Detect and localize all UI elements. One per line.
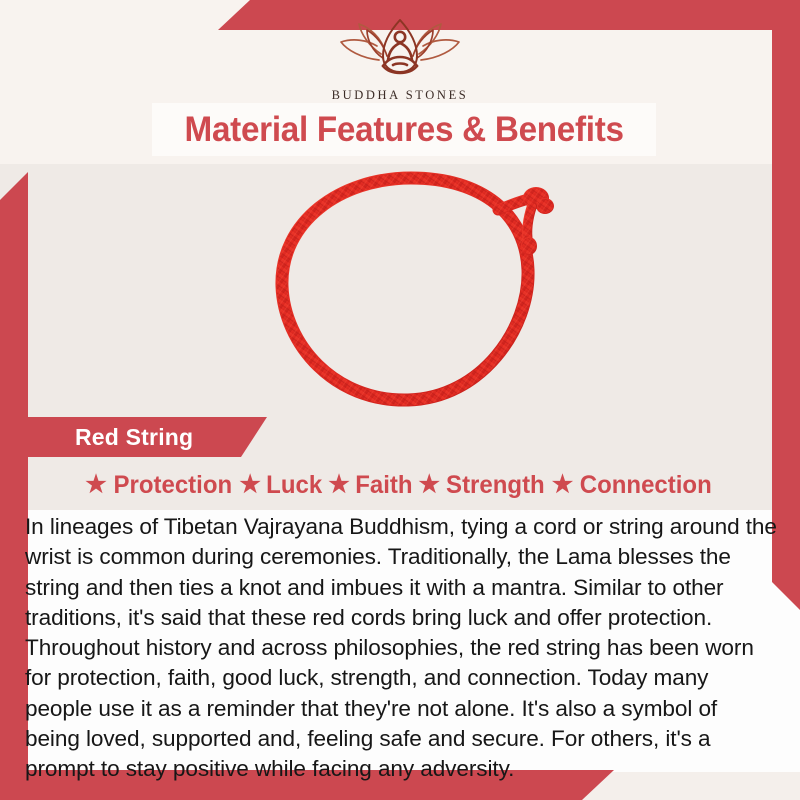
feature-item-luck: ★ Luck — [239, 471, 323, 500]
feature-label: Strength — [446, 471, 545, 500]
feature-label: Faith — [355, 471, 412, 500]
star-icon: ★ — [418, 473, 440, 497]
feature-item-strength: ★ Strength — [418, 471, 546, 500]
brand-logo: BUDDHA STONES — [0, 14, 800, 103]
lotus-meditation-icon — [325, 14, 475, 86]
feature-item-protection: ★ Protection — [85, 471, 234, 500]
material-label-banner: Red String — [17, 417, 267, 457]
infographic-page: BUDDHA STONES Material Features & Benefi… — [0, 0, 800, 800]
page-title: Material Features & Benefits — [184, 110, 623, 150]
star-icon: ★ — [239, 473, 261, 497]
feature-item-connection: ★ Connection — [552, 471, 715, 500]
feature-item-faith: ★ Faith — [328, 471, 413, 500]
star-icon: ★ — [85, 473, 107, 497]
material-label: Red String — [75, 424, 193, 451]
feature-label: Luck — [266, 471, 322, 500]
brand-name: BUDDHA STONES — [332, 88, 469, 103]
description-paragraph: In lineages of Tibetan Vajrayana Buddhis… — [25, 512, 777, 785]
page-title-banner: Material Features & Benefits — [152, 103, 656, 156]
feature-list: ★ Protection ★ Luck ★ Faith ★ Strength ★… — [0, 466, 800, 504]
feature-label: Protection — [113, 471, 232, 500]
star-icon: ★ — [328, 473, 350, 497]
feature-label: Connection — [580, 471, 712, 500]
product-image — [236, 166, 586, 428]
star-icon: ★ — [552, 473, 574, 497]
